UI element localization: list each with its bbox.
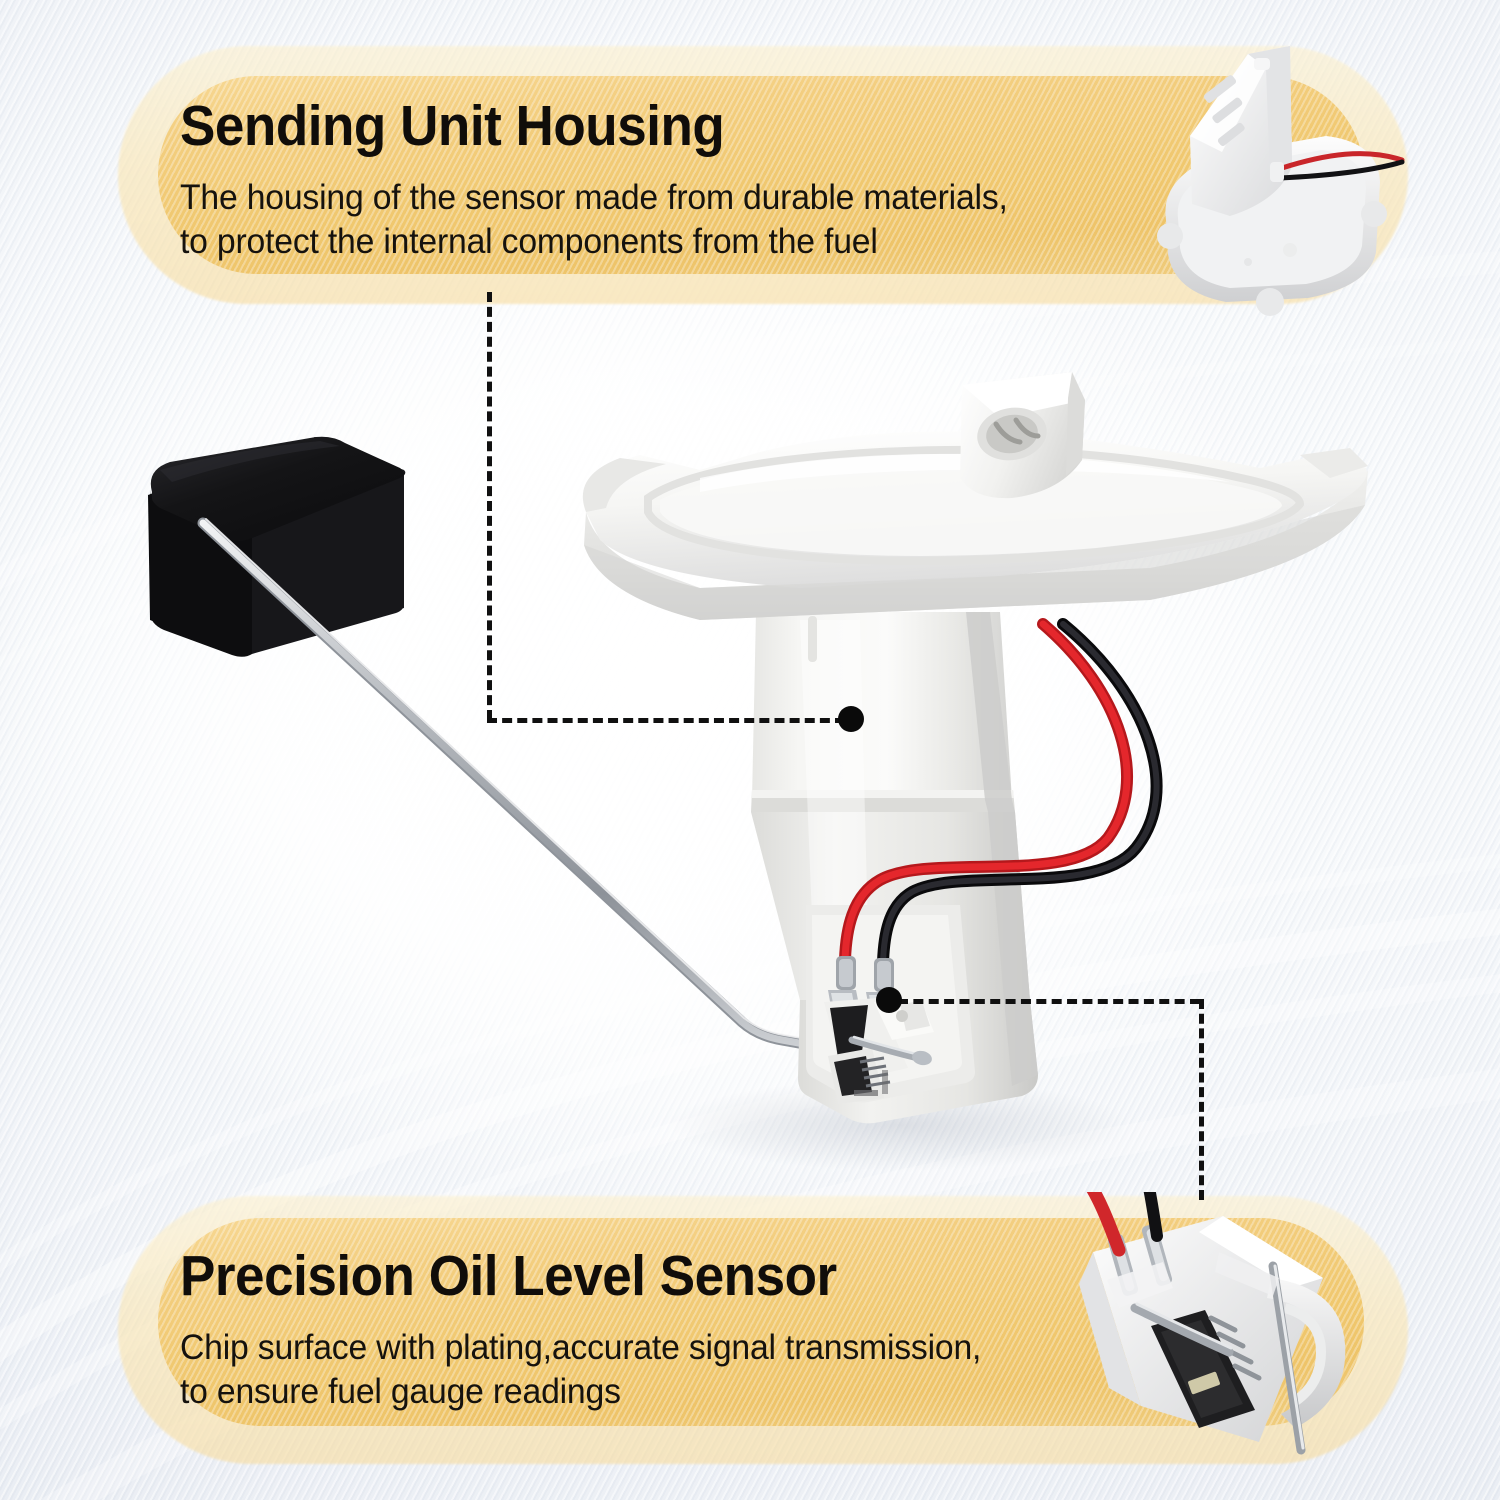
leader-vertical-segment: [1199, 999, 1204, 1200]
leader-precision-oil-level-sensor: [0, 0, 1500, 1500]
leader-endpoint-dot: [876, 987, 902, 1013]
infographic-canvas: Sending Unit Housing The housing of the …: [0, 0, 1500, 1500]
leader-horizontal-segment: [898, 999, 1200, 1004]
